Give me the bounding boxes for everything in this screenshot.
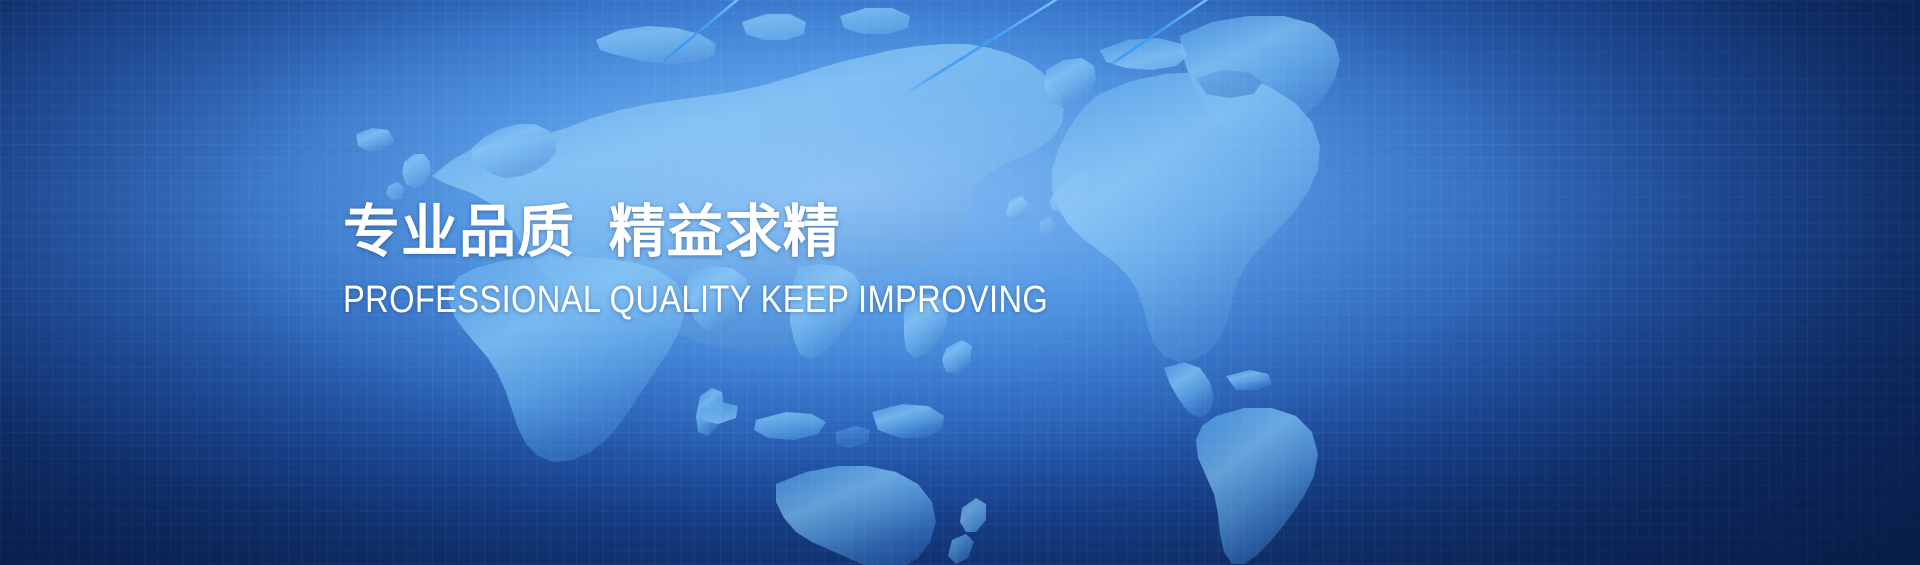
hero-banner: 专业品质 精益求精 PROFESSIONAL QUALITY KEEP IMPR… [0,0,1920,565]
banner-subheadline-en: PROFESSIONAL QUALITY KEEP IMPROVING [343,278,1117,322]
banner-copy: 专业品质 精益求精 PROFESSIONAL QUALITY KEEP IMPR… [343,200,1243,322]
banner-headline-cn: 专业品质 精益求精 [343,200,1243,264]
